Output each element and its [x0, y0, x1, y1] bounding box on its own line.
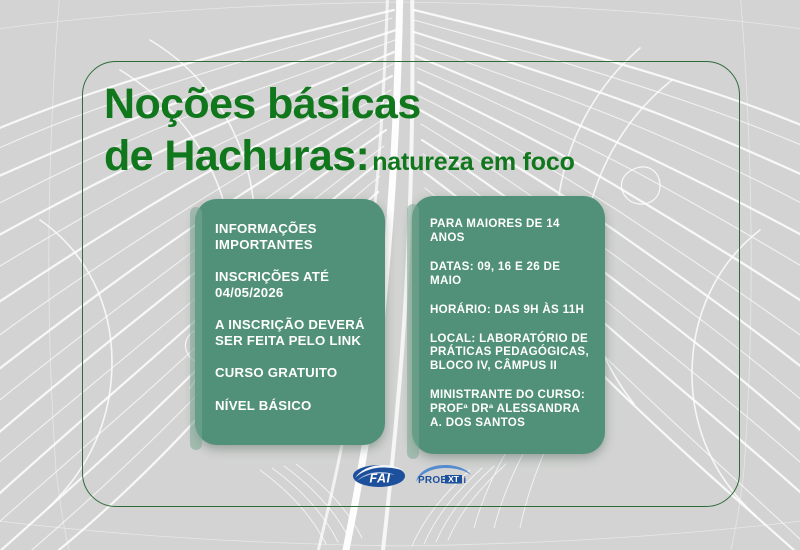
list-item: LOCAL: LABORATÓRIO DE PRÁTICAS PEDAGÓGIC…	[430, 332, 591, 374]
proext-logo-icon: PROE XT i	[414, 463, 472, 489]
list-item: MINISTRANTE DO CURSO: PROFª DRª ALESSAND…	[430, 388, 591, 430]
page-title-line-1: Noções básicas	[104, 83, 575, 126]
logo-strip: FAI PROE XT i	[352, 463, 472, 489]
page-title-line-2: de Hachuras:	[104, 132, 369, 180]
info-card-right: PARA MAIORES DE 14 ANOS DATAS: 09, 16 E …	[412, 196, 605, 454]
list-item: INFORMAÇÕES IMPORTANTES	[215, 221, 367, 252]
list-item: DATAS: 09, 16 E 26 DE MAIO	[430, 260, 591, 288]
info-list-left: INFORMAÇÕES IMPORTANTES INSCRIÇÕES ATÉ 0…	[215, 221, 367, 414]
poster-canvas: Noções básicas de Hachuras:natureza em f…	[0, 0, 800, 550]
svg-text:i: i	[464, 475, 467, 485]
svg-text:XT: XT	[448, 474, 460, 484]
list-item: HORÁRIO: DAS 9H ÀS 11H	[430, 303, 591, 317]
svg-text:PROE: PROE	[418, 475, 447, 486]
list-item: CURSO GRATUITO	[215, 365, 367, 381]
title-block: Noções básicas de Hachuras:natureza em f…	[104, 83, 575, 178]
list-item: A INSCRIÇÃO DEVERÁ SER FEITA PELO LINK	[215, 317, 367, 348]
info-list-right: PARA MAIORES DE 14 ANOS DATAS: 09, 16 E …	[430, 217, 591, 430]
svg-text:FAI: FAI	[370, 472, 391, 486]
list-item: PARA MAIORES DE 14 ANOS	[430, 217, 591, 245]
info-card-left: INFORMAÇÕES IMPORTANTES INSCRIÇÕES ATÉ 0…	[195, 199, 385, 445]
list-item: NÍVEL BÁSICO	[215, 398, 367, 414]
list-item: INSCRIÇÕES ATÉ 04/05/2026	[215, 269, 367, 300]
fai-logo-icon: FAI	[352, 463, 406, 489]
page-subtitle: natureza em foco	[372, 148, 574, 176]
